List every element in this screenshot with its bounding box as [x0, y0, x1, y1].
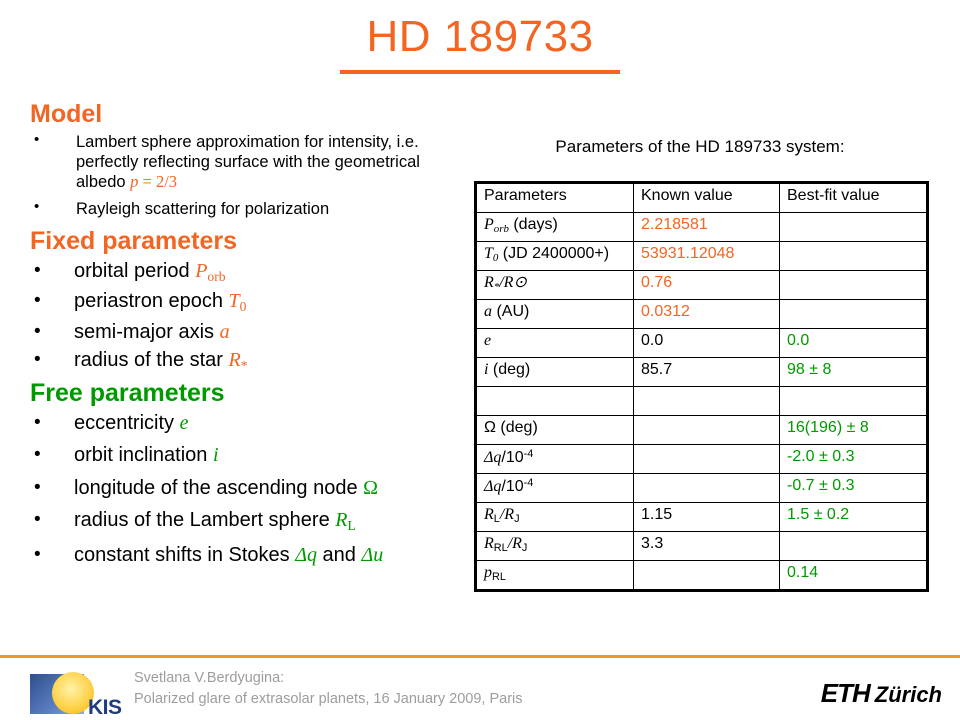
bullet-text: orbit inclination — [74, 444, 213, 466]
param-symbol: Δq — [484, 449, 501, 466]
row-param-label: Δq/10-4 — [476, 445, 634, 474]
param-superscript: -4 — [524, 448, 534, 460]
row-known-value — [634, 416, 780, 445]
param-rest: /10 — [501, 478, 523, 495]
param-symbol: R — [484, 274, 494, 291]
row-known-value: 1.15 — [634, 503, 780, 532]
kis-logo: KIS — [30, 672, 130, 716]
column-header-known-value: Known value — [634, 183, 780, 213]
row-param-label: T0 (JD 2400000+) — [476, 242, 634, 271]
bullet-symbol: Δq — [295, 544, 317, 566]
list-item: •radius of the star R* — [30, 348, 470, 375]
row-param-label: Δq/10-4 — [476, 474, 634, 503]
row-known-value: 0.76 — [634, 271, 780, 300]
param-symbol: R — [484, 535, 494, 552]
bullet-symbol: i — [213, 444, 219, 466]
row-known-value — [634, 474, 780, 503]
row-best-fit-value: 16(196) ± 8 — [780, 416, 928, 445]
list-item: •eccentricity e — [30, 411, 470, 435]
table-row: RL/RJ 1.15 1.5 ± 0.2 — [476, 503, 928, 532]
bullet-symbol: Ω — [363, 477, 378, 499]
eth-logo-mark: ETH — [821, 678, 870, 708]
bullet-dot-icon: • — [34, 508, 41, 531]
row-param-label: i (deg) — [476, 358, 634, 387]
bullet-symbol: R — [335, 509, 347, 531]
param-subscript-2: J — [514, 513, 519, 525]
list-item: •Rayleigh scattering for polarization — [30, 199, 470, 219]
param-superscript: -4 — [524, 477, 534, 489]
row-best-fit-value — [780, 532, 928, 561]
param-symbol: Δq — [484, 478, 501, 495]
bullet-text: longitude of the ascending node — [74, 477, 363, 499]
bullet-symbol: e — [180, 412, 189, 434]
bullet-symbol: a — [220, 321, 230, 343]
row-best-fit-value: -2.0 ± 0.3 — [780, 445, 928, 474]
title-underline — [340, 70, 620, 74]
param-symbol: p — [484, 564, 492, 581]
bullet-text: Lambert sphere approximation for intensi… — [76, 133, 420, 191]
bullet-text-b: and — [317, 544, 361, 566]
bullet-symbol: R — [229, 349, 241, 371]
param-symbol: Ω — [484, 419, 496, 436]
table-row: i (deg) 85.7 98 ± 8 — [476, 358, 928, 387]
param-symbol: T — [484, 245, 493, 262]
param-subscript: RL — [494, 542, 508, 554]
fixed-parameters-list: •orbital period Porb •periastron epoch T… — [30, 259, 470, 375]
bullet-text: orbital period — [74, 260, 195, 282]
param-subscript: RL — [492, 571, 506, 583]
bullet-dot-icon: • — [34, 543, 41, 566]
table-row: e 0.0 0.0 — [476, 329, 928, 358]
bullet-dot-icon: • — [34, 320, 41, 343]
table-section-separator — [476, 387, 928, 416]
column-header-parameters: Parameters — [476, 183, 634, 213]
bullet-dot-icon: • — [34, 411, 41, 434]
table-row: pRL 0.14 — [476, 561, 928, 591]
bullet-symbol-subscript: * — [241, 358, 248, 373]
row-best-fit-value — [780, 242, 928, 271]
param-rest: (deg) — [496, 419, 538, 436]
bullet-symbol: P — [195, 260, 207, 282]
table-row: RRL/RJ 3.3 — [476, 532, 928, 561]
parameters-table: Parameters Known value Best-fit value Po… — [474, 181, 929, 592]
bullet-symbol-suffix: = 2/3 — [138, 172, 177, 191]
row-best-fit-value: 0.14 — [780, 561, 928, 591]
footer-divider — [0, 655, 960, 658]
row-param-label: a (AU) — [476, 300, 634, 329]
param-subscript-2: J — [522, 542, 527, 554]
table-row: R*/R⊙ 0.76 — [476, 271, 928, 300]
param-subscript: orb — [494, 223, 509, 235]
param-rest: (deg) — [488, 361, 530, 378]
row-known-value: 0.0312 — [634, 300, 780, 329]
list-item: •constant shifts in Stokes Δq and Δu — [30, 543, 470, 567]
bullet-symbol-b: Δu — [361, 544, 383, 566]
footer-subtitle: Polarized glare of extrasolar planets, 1… — [134, 689, 523, 710]
bullet-symbol-subscript: L — [347, 518, 355, 533]
bullet-dot-icon: • — [34, 476, 41, 499]
heading-fixed-parameters: Fixed parameters — [30, 227, 470, 255]
param-rest: /R⊙ — [499, 274, 527, 291]
row-best-fit-value — [780, 213, 928, 242]
bullet-text: radius of the star — [74, 349, 229, 371]
row-known-value: 3.3 — [634, 532, 780, 561]
bullet-dot-icon: • — [34, 198, 39, 216]
bullet-dot-icon: • — [34, 289, 41, 312]
table-header-row: Parameters Known value Best-fit value — [476, 183, 928, 213]
param-rest: (AU) — [492, 303, 529, 320]
row-known-value: 85.7 — [634, 358, 780, 387]
param-symbol: a — [484, 303, 492, 320]
list-item: •semi-major axis a — [30, 320, 470, 344]
bullet-symbol-subscript: 0 — [240, 299, 247, 314]
row-param-label: RRL/RJ — [476, 532, 634, 561]
bullet-dot-icon: • — [34, 259, 41, 282]
list-item: •orbit inclination i — [30, 443, 470, 467]
param-symbol: P — [484, 216, 494, 233]
row-best-fit-value: 0.0 — [780, 329, 928, 358]
row-known-value — [634, 561, 780, 591]
bullet-text: periastron epoch — [74, 290, 229, 312]
footer-author: Svetlana V.Berdyugina: — [134, 668, 523, 689]
list-item: •periastron epoch T0 — [30, 289, 470, 316]
free-parameters-list: •eccentricity e •orbit inclination i •lo… — [30, 411, 470, 567]
param-rest: /R — [508, 535, 522, 552]
list-item: •longitude of the ascending node Ω — [30, 476, 470, 500]
left-content-column: Model •Lambert sphere approximation for … — [30, 100, 470, 575]
row-param-label: Porb (days) — [476, 213, 634, 242]
bullet-symbol: T — [229, 290, 240, 312]
row-known-value: 53931.12048 — [634, 242, 780, 271]
row-best-fit-value: 1.5 ± 0.2 — [780, 503, 928, 532]
table-row: Ω (deg) 16(196) ± 8 — [476, 416, 928, 445]
heading-model: Model — [30, 100, 470, 128]
list-item: •radius of the Lambert sphere RL — [30, 508, 470, 535]
table-row: Δq/10-4 -2.0 ± 0.3 — [476, 445, 928, 474]
param-rest: /10 — [501, 449, 523, 466]
row-param-label: Ω (deg) — [476, 416, 634, 445]
bullet-symbol-subscript: orb — [207, 269, 225, 284]
table-row: Δq/10-4 -0.7 ± 0.3 — [476, 474, 928, 503]
bullet-dot-icon: • — [34, 443, 41, 466]
row-param-label: e — [476, 329, 634, 358]
param-rest: (JD 2400000+) — [498, 245, 609, 262]
list-item: •Lambert sphere approximation for intens… — [30, 132, 470, 192]
page-title: HD 189733 — [0, 14, 960, 60]
row-best-fit-value: -0.7 ± 0.3 — [780, 474, 928, 503]
row-known-value: 0.0 — [634, 329, 780, 358]
bullet-dot-icon: • — [34, 348, 41, 371]
footer-credit: Svetlana V.Berdyugina: Polarized glare o… — [134, 668, 523, 710]
row-best-fit-value: 98 ± 8 — [780, 358, 928, 387]
table-row: a (AU) 0.0312 — [476, 300, 928, 329]
column-header-best-fit-value: Best-fit value — [780, 183, 928, 213]
row-best-fit-value — [780, 300, 928, 329]
bullet-dot-icon: • — [34, 131, 39, 149]
row-param-label: RL/RJ — [476, 503, 634, 532]
row-param-label: R*/R⊙ — [476, 271, 634, 300]
bullet-text: constant shifts in Stokes — [74, 544, 295, 566]
bullet-text: radius of the Lambert sphere — [74, 509, 335, 531]
eth-logo-city: Zürich — [875, 682, 942, 707]
table-caption: Parameters of the HD 189733 system: — [474, 137, 926, 157]
list-item: •orbital period Porb — [30, 259, 470, 286]
kis-logo-label: KIS — [88, 696, 122, 720]
eth-zurich-logo: ETHZürich — [821, 678, 942, 709]
table-row: T0 (JD 2400000+) 53931.12048 — [476, 242, 928, 271]
row-known-value — [634, 445, 780, 474]
param-symbol: e — [484, 332, 491, 349]
param-rest: (days) — [509, 216, 558, 233]
row-known-value: 2.218581 — [634, 213, 780, 242]
table-row: Porb (days) 2.218581 — [476, 213, 928, 242]
row-param-label: pRL — [476, 561, 634, 591]
model-bullet-list: •Lambert sphere approximation for intens… — [30, 132, 470, 220]
bullet-text: Rayleigh scattering for polarization — [76, 200, 329, 218]
param-symbol: R — [484, 506, 494, 523]
heading-free-parameters: Free parameters — [30, 379, 470, 407]
bullet-text: eccentricity — [74, 412, 180, 434]
row-best-fit-value — [780, 271, 928, 300]
param-rest: /R — [500, 506, 514, 523]
bullet-text: semi-major axis — [74, 321, 220, 343]
